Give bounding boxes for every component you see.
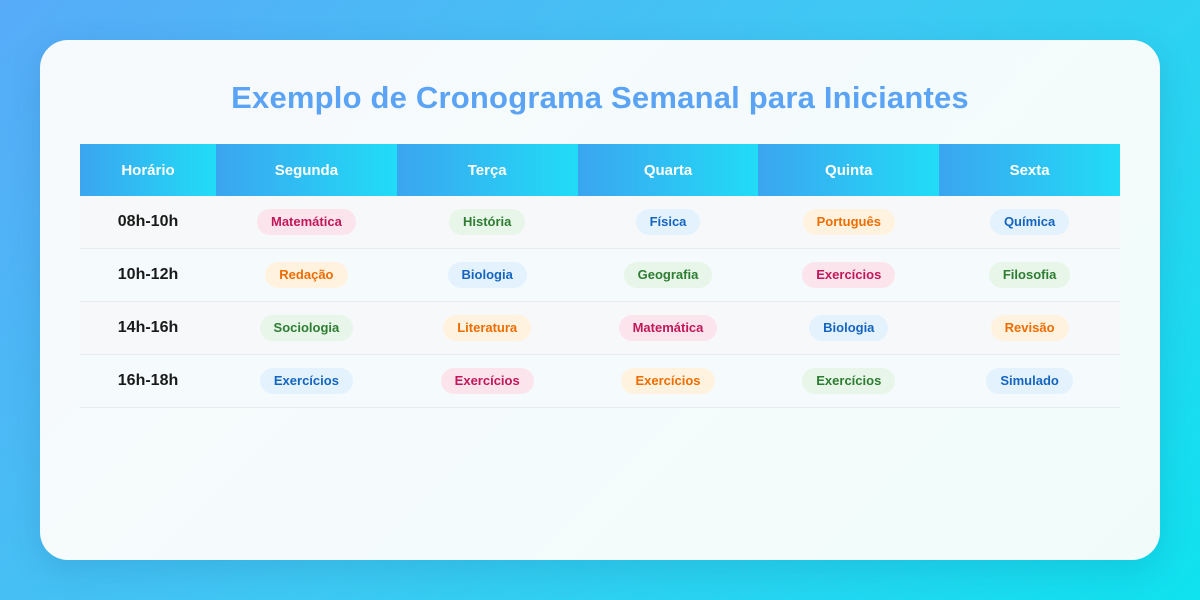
- subject-badge: Simulado: [986, 368, 1073, 394]
- subject-badge: Português: [803, 209, 895, 235]
- schedule-cell: História: [397, 196, 578, 249]
- subject-badge: Exercícios: [441, 368, 534, 394]
- column-header-sexta: Sexta: [939, 144, 1120, 196]
- table-header: Horário Segunda Terça Quarta Quinta Sext…: [80, 144, 1120, 196]
- schedule-cell: Exercícios: [578, 355, 759, 408]
- schedule-cell: Revisão: [939, 302, 1120, 355]
- column-header-terca: Terça: [397, 144, 578, 196]
- subject-badge: História: [449, 209, 525, 235]
- schedule-cell: Exercícios: [216, 355, 397, 408]
- time-slot-label: 14h-16h: [80, 302, 216, 355]
- table-row: 16h-18h Exercícios Exercícios Exercícios…: [80, 355, 1120, 408]
- subject-badge: Revisão: [991, 315, 1069, 341]
- schedule-table-container: Horário Segunda Terça Quarta Quinta Sext…: [40, 144, 1160, 408]
- schedule-cell: Matemática: [216, 196, 397, 249]
- schedule-cell: Física: [578, 196, 759, 249]
- subject-badge: Matemática: [619, 315, 718, 341]
- schedule-cell: Química: [939, 196, 1120, 249]
- schedule-cell: Filosofia: [939, 249, 1120, 302]
- schedule-card: Exemplo de Cronograma Semanal para Inici…: [40, 40, 1160, 560]
- table-row: 14h-16h Sociologia Literatura Matemática…: [80, 302, 1120, 355]
- subject-badge: Biologia: [448, 262, 527, 288]
- subject-badge: Sociologia: [260, 315, 354, 341]
- table-header-row: Horário Segunda Terça Quarta Quinta Sext…: [80, 144, 1120, 196]
- schedule-cell: Exercícios: [758, 249, 939, 302]
- schedule-cell: Literatura: [397, 302, 578, 355]
- subject-badge: Filosofia: [989, 262, 1070, 288]
- subject-badge: Química: [990, 209, 1069, 235]
- schedule-cell: Geografia: [578, 249, 759, 302]
- schedule-cell: Simulado: [939, 355, 1120, 408]
- table-body: 08h-10h Matemática História Física Portu…: [80, 196, 1120, 408]
- schedule-cell: Exercícios: [397, 355, 578, 408]
- column-header-quarta: Quarta: [578, 144, 759, 196]
- subject-badge: Exercícios: [260, 368, 353, 394]
- column-header-segunda: Segunda: [216, 144, 397, 196]
- subject-badge: Biologia: [809, 315, 888, 341]
- subject-badge: Exercícios: [802, 368, 895, 394]
- time-slot-label: 10h-12h: [80, 249, 216, 302]
- schedule-cell: Português: [758, 196, 939, 249]
- page-background: Exemplo de Cronograma Semanal para Inici…: [0, 0, 1200, 600]
- schedule-cell: Biologia: [397, 249, 578, 302]
- time-slot-label: 08h-10h: [80, 196, 216, 249]
- subject-badge: Exercícios: [621, 368, 714, 394]
- schedule-table: Horário Segunda Terça Quarta Quinta Sext…: [80, 144, 1120, 408]
- schedule-cell: Matemática: [578, 302, 759, 355]
- column-header-horario: Horário: [80, 144, 216, 196]
- schedule-cell: Sociologia: [216, 302, 397, 355]
- schedule-cell: Biologia: [758, 302, 939, 355]
- subject-badge: Literatura: [443, 315, 531, 341]
- time-slot-label: 16h-18h: [80, 355, 216, 408]
- page-title: Exemplo de Cronograma Semanal para Inici…: [40, 40, 1160, 116]
- table-row: 08h-10h Matemática História Física Portu…: [80, 196, 1120, 249]
- subject-badge: Exercícios: [802, 262, 895, 288]
- subject-badge: Geografia: [624, 262, 713, 288]
- subject-badge: Redação: [265, 262, 347, 288]
- table-row: 10h-12h Redação Biologia Geografia Exerc…: [80, 249, 1120, 302]
- schedule-cell: Exercícios: [758, 355, 939, 408]
- subject-badge: Matemática: [257, 209, 356, 235]
- column-header-quinta: Quinta: [758, 144, 939, 196]
- subject-badge: Física: [636, 209, 701, 235]
- schedule-cell: Redação: [216, 249, 397, 302]
